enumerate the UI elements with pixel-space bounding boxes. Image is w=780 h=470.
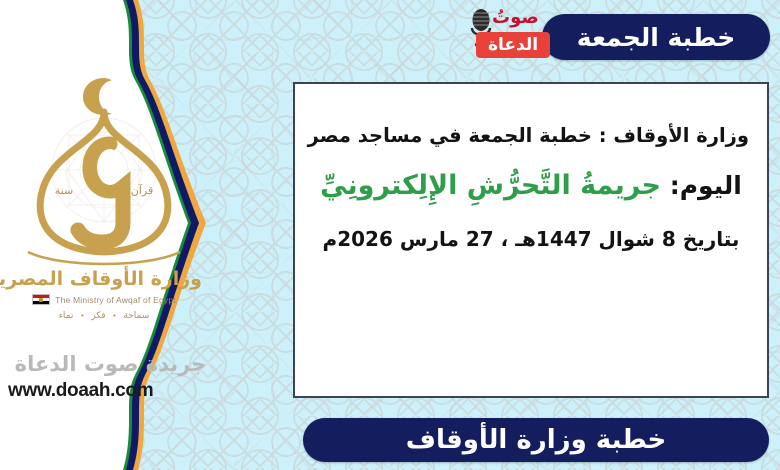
newspaper-website[interactable]: www.doaah.com [8, 380, 213, 402]
ministry-name-arabic: وزارة الأوقاف المصرية [6, 268, 202, 290]
card-topic-label: اليوم: [670, 171, 742, 200]
mosque-dome-icon: قرآن سنة [6, 72, 202, 277]
card-topic-value: جريمةُ التَّحرُّشِ الإِلِكترونِيِّ [320, 170, 661, 201]
banner-top-label: خطبة الجمعة [577, 23, 735, 52]
newspaper-brand: جريدة صوت الدعاة www.doaah.com [8, 352, 213, 402]
slogan-separator-0: • [112, 312, 116, 320]
ministry-name-english: The Ministry of Awqaf of Egypt [55, 295, 176, 305]
sunnah-label: سنة [55, 184, 73, 197]
ministry-name-english-row: The Ministry of Awqaf of Egypt [6, 294, 202, 305]
slogan-separator-1: • [80, 312, 84, 320]
banner-friday-sermon: خطبة الجمعة [542, 14, 770, 60]
soat-eldoaah-logo[interactable]: صوتُ الدعاة [466, 2, 558, 60]
slogan-item-1: فكر [91, 311, 105, 321]
slogan-item-0: سماحة [123, 311, 149, 321]
newspaper-name-arabic: جريدة صوت الدعاة [8, 352, 213, 376]
card-topic-line: اليوم: جريمةُ التَّحرُّشِ الإِلِكترونِيِ… [313, 172, 749, 200]
doaah-top-word: صوتُ [492, 7, 539, 28]
egypt-flag-icon [32, 294, 50, 305]
slogan-item-2: نماء [59, 311, 74, 321]
ministry-of-awqaf-logo: قرآن سنة وزارة الأوقاف المصرية The Minis… [6, 72, 202, 322]
doaah-pill: الدعاة [476, 32, 550, 58]
quran-label: قرآن [131, 183, 153, 197]
ministry-slogan: سماحة • فكر • نماء [6, 311, 202, 321]
sermon-info-card: وزارة الأوقاف : خطبة الجمعة في مساجد مصر… [293, 82, 769, 398]
crescent-icon [83, 78, 112, 115]
banner-ministry-sermon: خطبة وزارة الأوقاف [303, 418, 769, 462]
doaah-pill-word: الدعاة [488, 37, 538, 54]
banner-bottom-label: خطبة وزارة الأوقاف [406, 425, 667, 455]
card-date: بتاريخ 8 شوال 1447هـ ، 27 مارس 2026م [313, 229, 749, 250]
khutbah-poster: قرآن سنة وزارة الأوقاف المصرية The Minis… [0, 0, 780, 470]
card-subtitle: وزارة الأوقاف : خطبة الجمعة في مساجد مصر [313, 126, 749, 146]
